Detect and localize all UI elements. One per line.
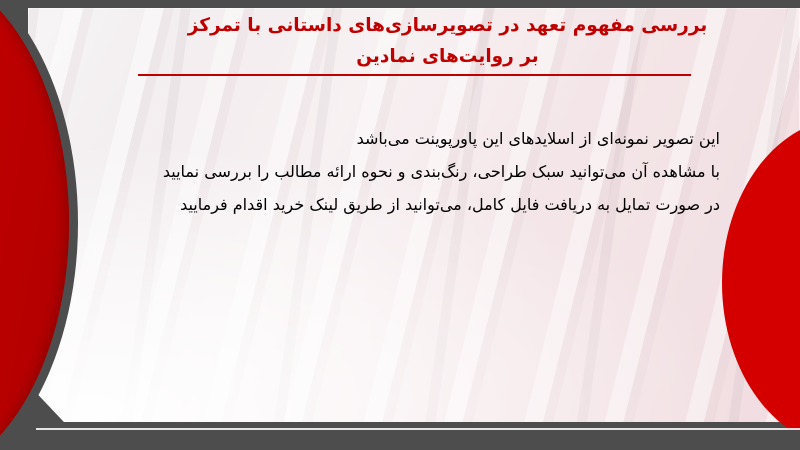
slide-body-line-3: در صورت تمایل به دریافت فایل کامل، می‌تو… — [80, 188, 720, 221]
bottom-frame-bar — [0, 430, 800, 450]
slide-body-text: این تصویر نمونه‌ای از اسلایدهای این پاور… — [80, 122, 720, 221]
slide-body-line-1: این تصویر نمونه‌ای از اسلایدهای این پاور… — [80, 122, 720, 155]
title-divider-rule — [138, 74, 691, 76]
slide-title-line-1: بررسی مفهوم تعهد در تصویرسازی‌های داستان… — [120, 10, 775, 41]
slide-body-line-2: با مشاهده آن می‌توانید سبک طراحی، رنگ‌بن… — [80, 155, 720, 188]
panel-bottom-highlight — [36, 428, 800, 430]
presentation-slide: بررسی مفهوم تعهد در تصویرسازی‌های داستان… — [0, 0, 800, 450]
top-frame-bar — [0, 0, 800, 8]
slide-title-line-2: بر روایت‌های نمادین — [120, 41, 775, 72]
slide-title: بررسی مفهوم تعهد در تصویرسازی‌های داستان… — [120, 10, 775, 72]
